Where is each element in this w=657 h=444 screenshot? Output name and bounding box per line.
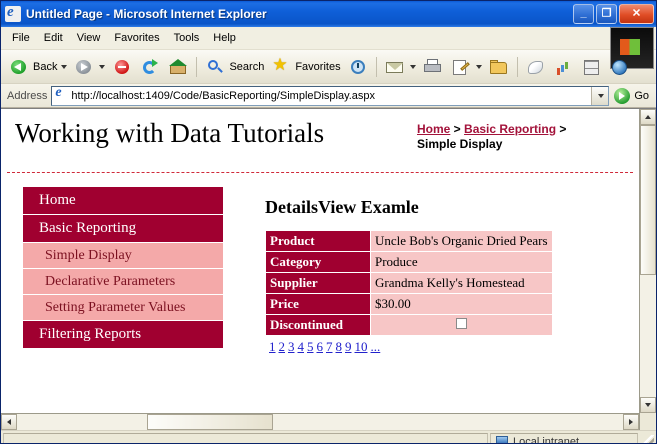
page-canvas: Working with Data Tutorials Home > Basic… — [1, 109, 639, 413]
mail-icon — [384, 56, 406, 78]
mail-dropdown-icon[interactable] — [410, 65, 416, 69]
ie-browser-window: Untitled Page - Microsoft Internet Explo… — [0, 0, 657, 444]
vertical-scrollbar[interactable] — [639, 109, 656, 413]
details-value-price: $30.00 — [371, 294, 553, 315]
toolbar-separator-3 — [517, 57, 518, 77]
search-button-label: Search — [229, 61, 264, 73]
details-value-category: Produce — [371, 252, 553, 273]
maximize-icon: ❐ — [597, 9, 616, 20]
minimize-icon: _ — [574, 9, 593, 20]
page-ie-icon — [54, 89, 68, 103]
sidebar-item-simple-display[interactable]: Simple Display — [23, 243, 223, 269]
pager-link-1[interactable]: 1 — [269, 339, 276, 354]
breadcrumb-separator-1: > — [450, 122, 464, 136]
media-button[interactable] — [550, 53, 578, 81]
home-icon — [167, 56, 189, 78]
breadcrumb-link-basic-reporting[interactable]: Basic Reporting — [464, 122, 556, 136]
print-button[interactable] — [419, 53, 447, 81]
address-input[interactable]: http://localhost:1409/Code/BasicReportin… — [51, 86, 609, 106]
menu-item-edit[interactable]: Edit — [37, 30, 70, 46]
forward-dropdown-icon[interactable] — [99, 65, 105, 69]
status-bar: Local intranet — [1, 430, 656, 444]
page-content: Working with Data Tutorials Home > Basic… — [1, 109, 639, 355]
pager-link-8[interactable]: 8 — [336, 339, 343, 354]
left-navigation: Home Basic Reporting Simple Display Decl… — [23, 187, 223, 355]
horizontal-scroll-thumb[interactable] — [147, 414, 273, 430]
minimize-button[interactable]: _ — [573, 4, 594, 24]
back-button-label: Back — [33, 61, 57, 73]
pager-link-5[interactable]: 5 — [307, 339, 314, 354]
security-zone-label: Local intranet — [513, 436, 579, 444]
messenger-button[interactable] — [522, 53, 550, 81]
address-label: Address — [4, 90, 47, 102]
refresh-button[interactable] — [136, 53, 164, 81]
menu-item-file[interactable]: File — [5, 30, 37, 46]
close-button[interactable]: ✕ — [619, 4, 654, 24]
menu-item-tools[interactable]: Tools — [167, 30, 207, 46]
menu-bar: File Edit View Favorites Tools Help — [1, 27, 656, 50]
back-dropdown-icon[interactable] — [61, 65, 67, 69]
pager-link-6[interactable]: 6 — [317, 339, 324, 354]
edit-page-icon — [450, 56, 472, 78]
history-clock-icon — [347, 56, 369, 78]
menu-item-help[interactable]: Help — [206, 30, 243, 46]
breadcrumb-current: Simple Display — [417, 137, 502, 151]
horizontal-scrollbar[interactable] — [1, 413, 639, 430]
folder-icon — [488, 56, 510, 78]
search-button[interactable]: Search — [201, 53, 267, 81]
home-button[interactable] — [164, 53, 192, 81]
back-arrow-icon — [8, 56, 30, 78]
window-title: Untitled Page - Microsoft Internet Explo… — [26, 7, 573, 21]
chevron-down-icon — [598, 94, 604, 98]
table-row: Product Uncle Bob's Organic Dried Pears — [266, 231, 553, 252]
toolbar-separator-2 — [376, 57, 377, 77]
pager-link-2[interactable]: 2 — [279, 339, 286, 354]
discontinued-checkbox[interactable] — [456, 318, 467, 329]
menu-item-favorites[interactable]: Favorites — [107, 30, 166, 46]
scroll-left-button[interactable] — [1, 414, 17, 430]
refresh-icon — [139, 56, 161, 78]
page-header: Working with Data Tutorials Home > Basic… — [7, 112, 633, 173]
table-row: Category Produce — [266, 252, 553, 273]
discuss-button[interactable] — [485, 53, 513, 81]
details-label-price: Price — [266, 294, 371, 315]
back-button[interactable]: Back — [5, 53, 70, 81]
details-value-discontinued — [371, 315, 553, 336]
go-arrow-icon — [613, 87, 631, 105]
media-bars-icon — [553, 56, 575, 78]
sidebar-item-home[interactable]: Home — [23, 187, 223, 215]
status-message — [3, 433, 488, 444]
address-bar: Address http://localhost:1409/Code/Basic… — [1, 84, 656, 108]
address-url-text: http://localhost:1409/Code/BasicReportin… — [71, 90, 591, 102]
pager-link-more[interactable]: ... — [371, 339, 381, 354]
ie-logo-icon — [5, 6, 21, 22]
edit-button[interactable] — [447, 53, 485, 81]
scrollbar-corner — [639, 413, 656, 430]
favorites-button-label: Favorites — [295, 61, 340, 73]
details-label-supplier: Supplier — [266, 273, 371, 294]
stop-button[interactable] — [108, 53, 136, 81]
scroll-down-button[interactable] — [640, 397, 656, 413]
printer-icon — [422, 56, 444, 78]
messenger-icon — [525, 56, 547, 78]
forward-arrow-icon — [73, 56, 95, 78]
breadcrumb: Home > Basic Reporting > Simple Display — [417, 122, 639, 152]
page-viewport: Working with Data Tutorials Home > Basic… — [1, 108, 656, 413]
details-label-category: Category — [266, 252, 371, 273]
list-grid-icon — [581, 56, 603, 78]
details-label-discontinued: Discontinued — [266, 315, 371, 336]
vertical-scroll-track[interactable] — [640, 275, 656, 397]
horizontal-scrollbar-row — [1, 413, 656, 430]
toolbar-separator-1 — [196, 57, 197, 77]
stop-icon — [111, 56, 133, 78]
pager-link-4[interactable]: 4 — [298, 339, 305, 354]
table-row: Supplier Grandma Kelly's Homestead — [266, 273, 553, 294]
maximize-button[interactable]: ❐ — [596, 4, 617, 24]
menu-item-view[interactable]: View — [70, 30, 108, 46]
intranet-zone-icon — [495, 435, 509, 444]
horizontal-scroll-track[interactable] — [17, 414, 623, 430]
star-icon — [270, 56, 292, 78]
scroll-up-button[interactable] — [640, 109, 656, 125]
sidebar-item-basic-reporting[interactable]: Basic Reporting — [23, 215, 223, 243]
vertical-scroll-thumb[interactable] — [640, 125, 656, 275]
forward-button[interactable] — [70, 53, 108, 81]
address-dropdown-button[interactable] — [591, 87, 608, 105]
favorites-button[interactable]: Favorites — [267, 53, 343, 81]
flag-shade — [620, 39, 640, 55]
pager-link-10[interactable]: 10 — [355, 339, 368, 354]
details-value-product: Uncle Bob's Organic Dried Pears — [371, 231, 553, 252]
go-button-label: Go — [634, 90, 649, 102]
details-label-product: Product — [266, 231, 371, 252]
page-body: Home Basic Reporting Simple Display Decl… — [1, 187, 639, 355]
pager: 12345678910... — [265, 336, 639, 355]
resize-grip[interactable] — [640, 435, 654, 444]
details-view-table: Product Uncle Bob's Organic Dried Pears … — [265, 230, 553, 336]
edit-dropdown-icon[interactable] — [476, 65, 482, 69]
sidebar-item-setting-parameter-values[interactable]: Setting Parameter Values — [23, 295, 223, 321]
globe-button[interactable] — [606, 53, 634, 81]
pager-link-3[interactable]: 3 — [288, 339, 295, 354]
security-zone: Local intranet — [490, 433, 638, 444]
history-button[interactable] — [344, 53, 372, 81]
main-content: DetailsView Examle Product Uncle Bob's O… — [223, 187, 639, 355]
table-row: Discontinued — [266, 315, 553, 336]
details-value-supplier: Grandma Kelly's Homestead — [371, 273, 553, 294]
sidebar-item-filtering-reports[interactable]: Filtering Reports — [23, 321, 223, 349]
table-row: Price $30.00 — [266, 294, 553, 315]
pager-link-9[interactable]: 9 — [345, 339, 352, 354]
page-title: Working with Data Tutorials — [15, 118, 324, 149]
research-button[interactable] — [578, 53, 606, 81]
scroll-right-button[interactable] — [623, 414, 639, 430]
title-bar: Untitled Page - Microsoft Internet Explo… — [1, 1, 656, 27]
globe-icon — [609, 56, 631, 78]
pager-link-7[interactable]: 7 — [326, 339, 333, 354]
mail-button[interactable] — [381, 53, 419, 81]
breadcrumb-link-home[interactable]: Home — [417, 122, 450, 136]
breadcrumb-separator-2: > — [556, 122, 566, 136]
close-icon: ✕ — [620, 9, 653, 20]
browser-toolbar: Back Search Favorites — [1, 50, 656, 84]
go-button[interactable]: Go — [613, 87, 653, 105]
window-controls: _ ❐ ✕ — [573, 4, 654, 24]
sidebar-item-declarative-parameters[interactable]: Declarative Parameters — [23, 269, 223, 295]
content-heading: DetailsView Examle — [265, 197, 639, 218]
search-icon — [204, 56, 226, 78]
